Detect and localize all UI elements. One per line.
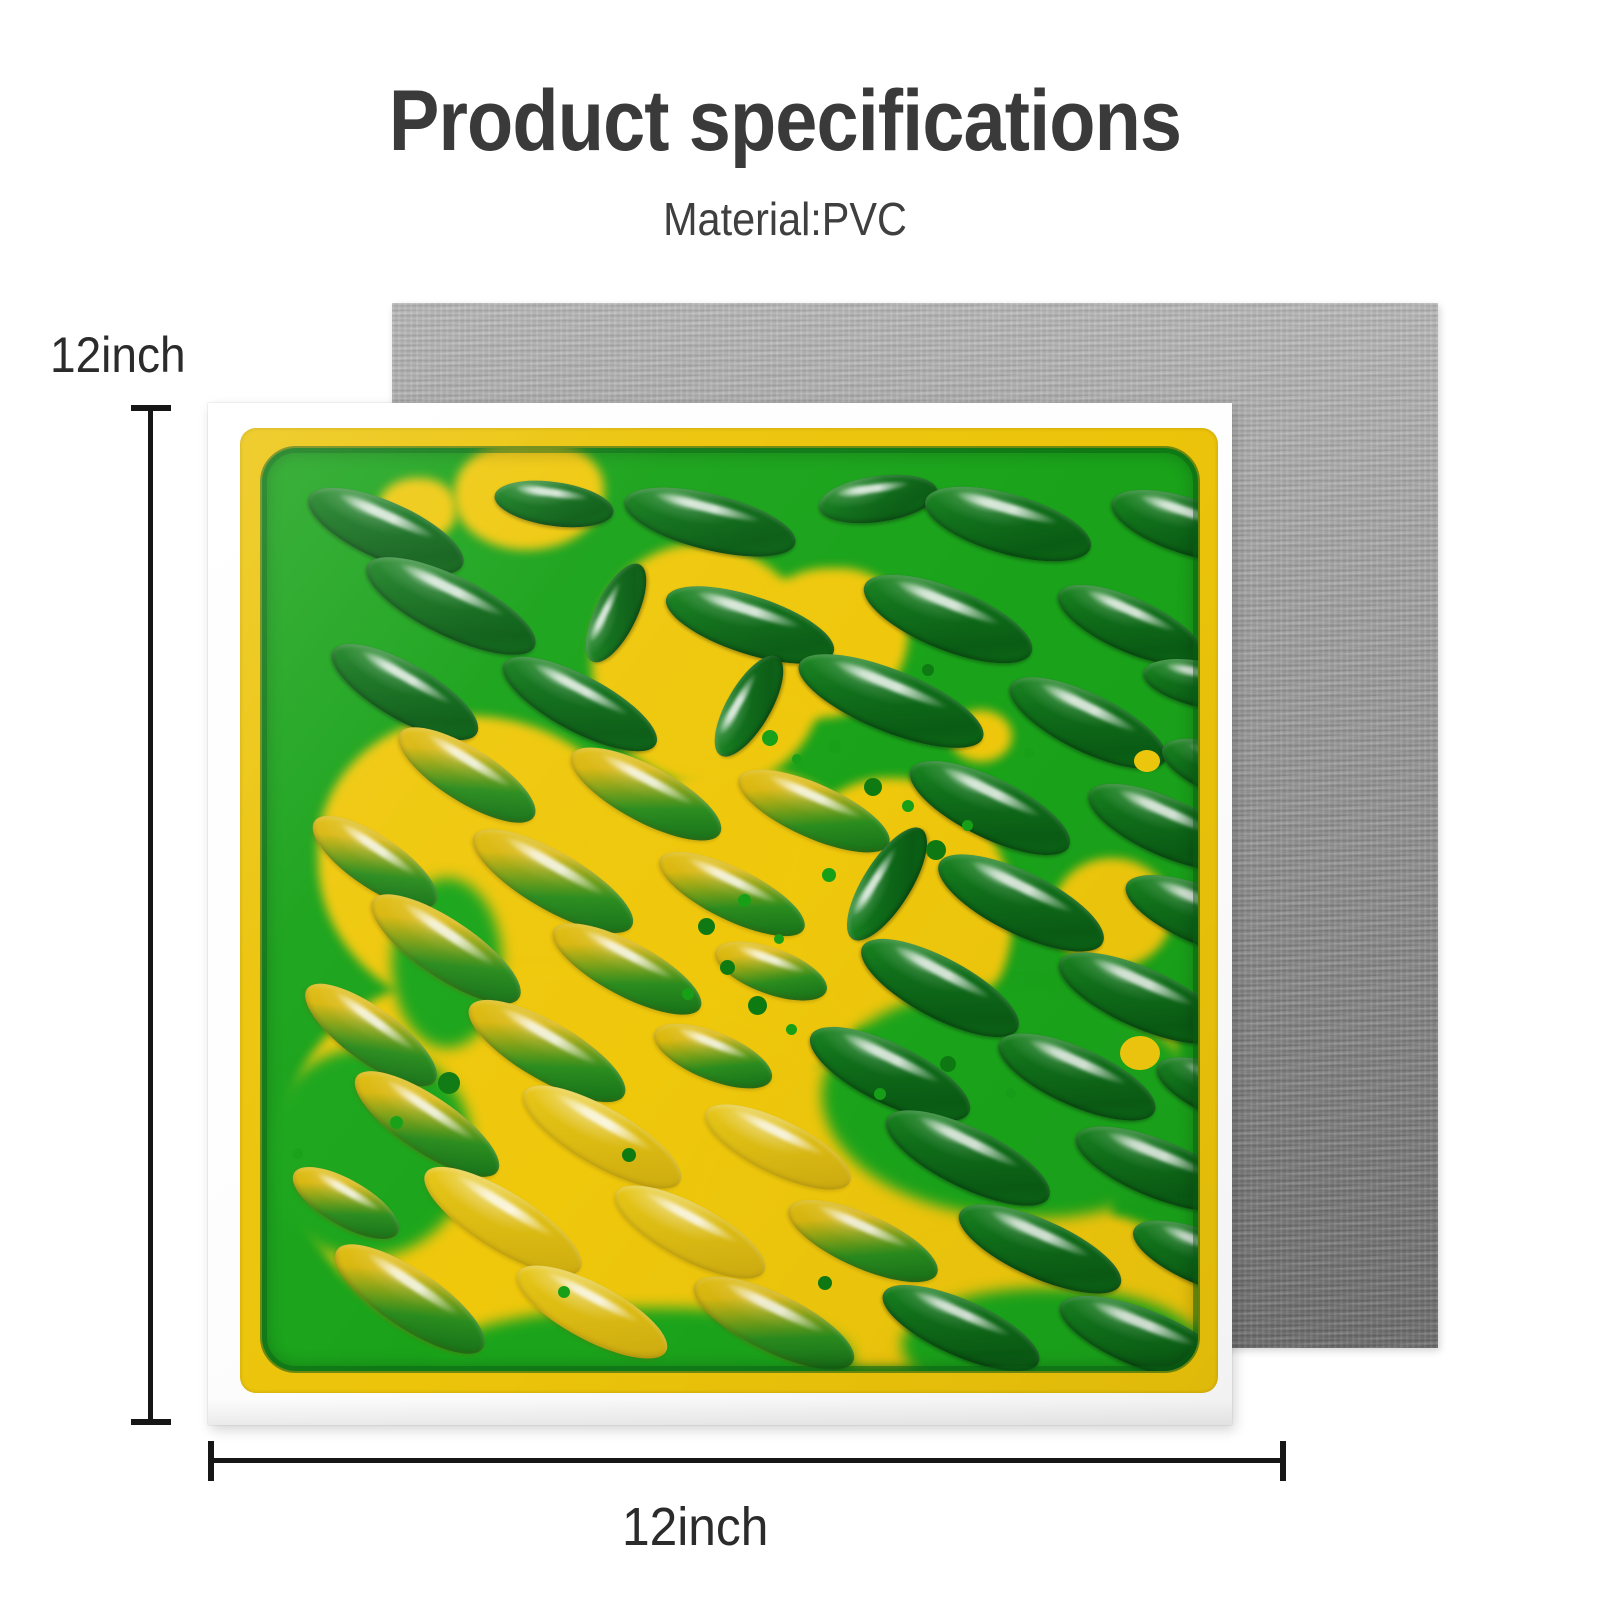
gel-droplet [762, 730, 778, 746]
gel-droplet [438, 1072, 460, 1094]
gel-droplet [1006, 1088, 1016, 1098]
gel-pad [240, 428, 1218, 1393]
gel-bump [815, 468, 940, 530]
gel-droplet [818, 1276, 832, 1290]
gel-droplet [926, 840, 946, 860]
gel-droplet [864, 778, 882, 796]
height-dimension-label: 12inch [50, 326, 186, 384]
gel-droplet [922, 664, 934, 676]
gel-droplet [622, 1148, 636, 1162]
material-subtitle: Material:PVC [79, 196, 1492, 242]
gel-droplet [1024, 748, 1034, 758]
gel-bump [1103, 475, 1198, 577]
gel-droplet [774, 934, 784, 944]
gel-droplet [874, 1088, 886, 1100]
gel-droplet [682, 988, 694, 1000]
product-tray [208, 403, 1232, 1425]
gel-droplet [902, 800, 914, 812]
gel-droplet [1134, 750, 1160, 772]
width-dimension-line [208, 1458, 1286, 1463]
gel-bump [917, 471, 1099, 576]
page-title: Product specifications [94, 78, 1476, 164]
gel-droplet [390, 1116, 403, 1129]
gel-droplet [792, 754, 802, 764]
gel-droplet [292, 1148, 303, 1159]
gel-droplet [962, 820, 973, 831]
gel-droplet [822, 868, 836, 882]
width-dimension-label: 12inch [622, 1496, 768, 1558]
height-dimension-bottom-cap [131, 1419, 171, 1425]
gel-droplet [738, 894, 751, 907]
gel-droplet [828, 740, 841, 753]
gel-droplet [940, 1056, 956, 1072]
gel-droplet [748, 996, 767, 1015]
gel-droplet [786, 1024, 797, 1035]
gel-surface [262, 448, 1198, 1371]
gel-droplet [720, 960, 735, 975]
gel-droplet [558, 1286, 570, 1298]
gel-droplet [1120, 1036, 1160, 1070]
height-dimension-line [148, 405, 153, 1425]
gel-droplet [698, 918, 715, 935]
width-dimension-right-cap [1280, 1441, 1286, 1481]
